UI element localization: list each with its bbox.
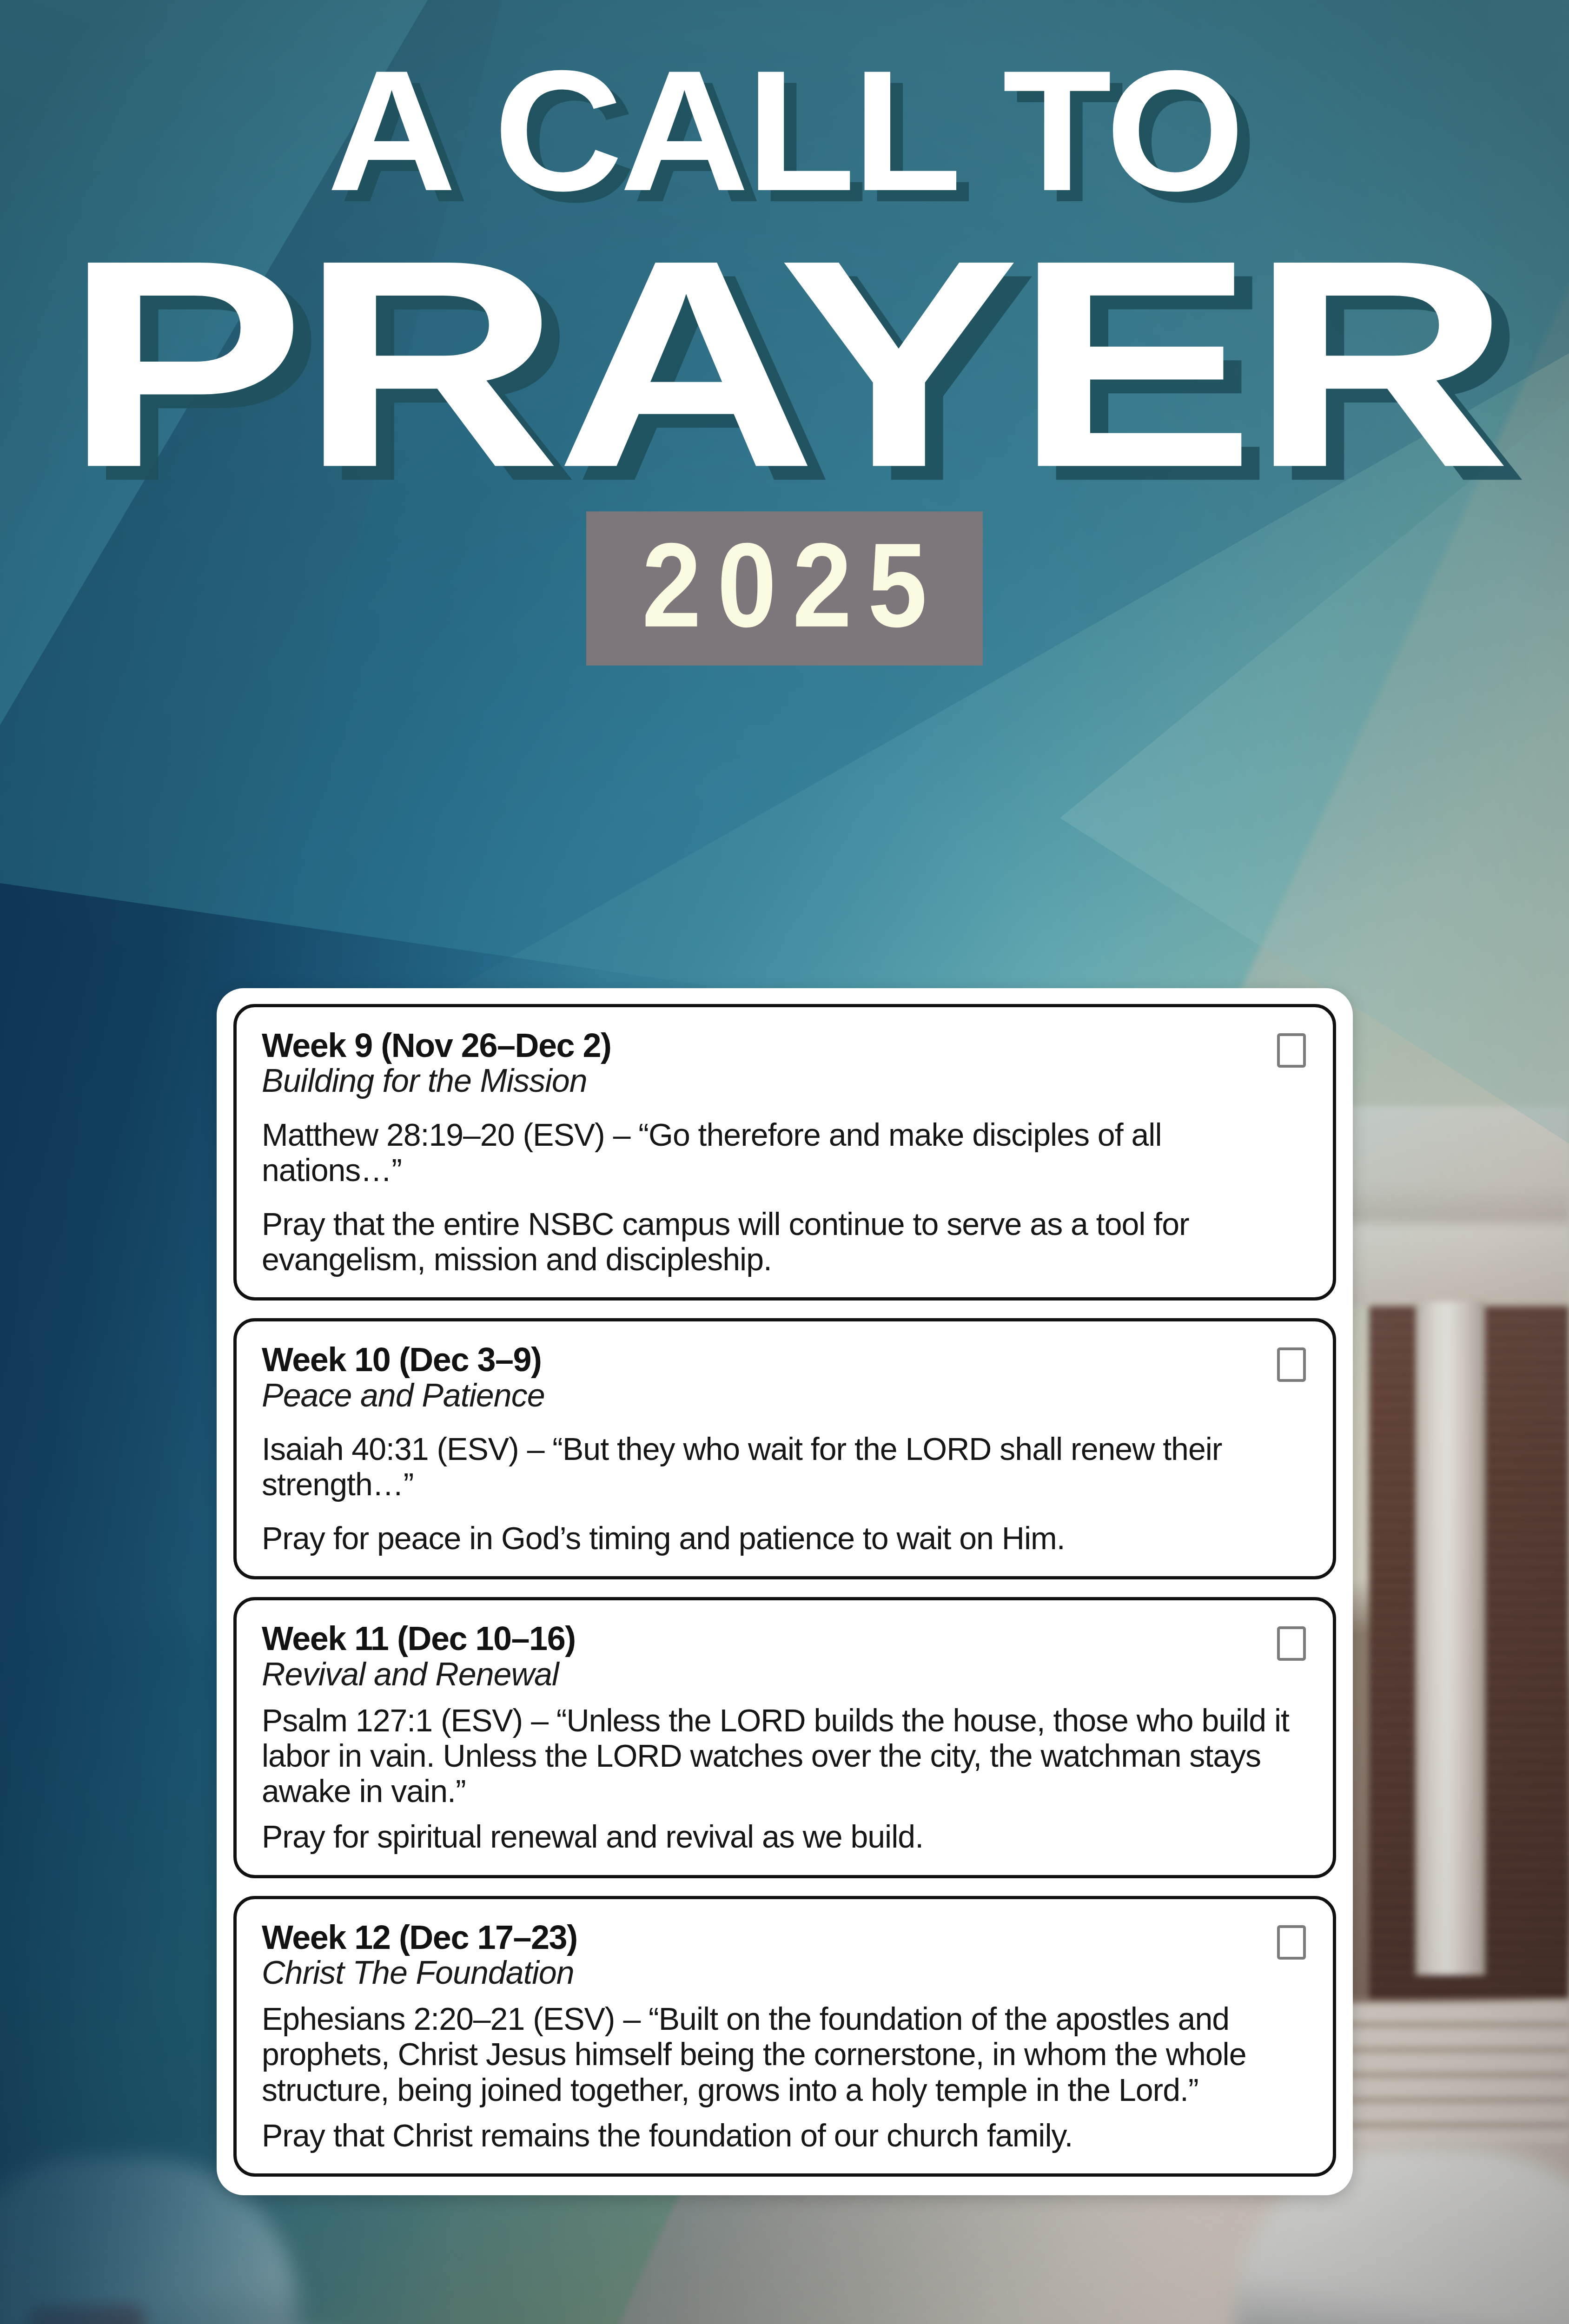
week-card[interactable]: Week 11 (Dec 10–16) Revival and Renewal … [233,1597,1336,1878]
scripture-text: Matthew 28:19–20 (ESV) – “Go therefore a… [262,1117,1308,1188]
card-title-group: Week 11 (Dec 10–16) Revival and Renewal [262,1622,1266,1691]
scripture-text: Ephesians 2:20–21 (ESV) – “Built on the … [262,2001,1308,2107]
card-header: Week 12 (Dec 17–23) Christ The Foundatio… [262,1921,1308,1990]
week-title: Week 9 (Nov 26–Dec 2) [262,1029,1266,1063]
title-line-two: PRAYER [0,224,1569,502]
scripture-text: Psalm 127:1 (ESV) – “Unless the LORD bui… [262,1703,1308,1809]
week-checkbox[interactable] [1277,1033,1306,1068]
week-theme: Building for the Mission [262,1063,1266,1098]
weeks-panel: Week 9 (Nov 26–Dec 2) Building for the M… [217,988,1353,2195]
week-checkbox[interactable] [1277,1626,1306,1661]
week-card[interactable]: Week 9 (Nov 26–Dec 2) Building for the M… [233,1004,1336,1301]
prayer-text: Pray that the entire NSBC campus will co… [262,1206,1308,1277]
title-line-one: A CALL TO [0,0,1569,217]
card-title-group: Week 10 (Dec 3–9) Peace and Patience [262,1343,1266,1413]
card-title-group: Week 12 (Dec 17–23) Christ The Foundatio… [262,1921,1266,1990]
week-card[interactable]: Week 12 (Dec 17–23) Christ The Foundatio… [233,1896,1336,2177]
scripture-text: Isaiah 40:31 (ESV) – “But they who wait … [262,1431,1308,1502]
week-card[interactable]: Week 10 (Dec 3–9) Peace and Patience Isa… [233,1318,1336,1579]
week-checkbox[interactable] [1277,1925,1306,1960]
week-title: Week 12 (Dec 17–23) [262,1921,1266,1954]
card-header: Week 10 (Dec 3–9) Peace and Patience [262,1343,1308,1413]
card-header: Week 11 (Dec 10–16) Revival and Renewal [262,1622,1308,1691]
prayer-text: Pray for spiritual renewal and revival a… [262,1819,1308,1854]
week-theme: Christ The Foundation [262,1955,1266,1990]
prayer-guide-poster: A CALL TO PRAYER 2025 Week 9 (Nov 26–Dec… [0,0,1569,2324]
week-checkbox[interactable] [1277,1347,1306,1382]
prayer-text: Pray for peace in God’s timing and patie… [262,1520,1308,1556]
poster-header: A CALL TO PRAYER 2025 [0,0,1569,657]
week-theme: Peace and Patience [262,1378,1266,1413]
week-title: Week 11 (Dec 10–16) [262,1622,1266,1656]
year-badge-wrapper: 2025 [0,520,1569,657]
card-title-group: Week 9 (Nov 26–Dec 2) Building for the M… [262,1029,1266,1098]
year-badge: 2025 [586,511,983,666]
week-theme: Revival and Renewal [262,1657,1266,1691]
card-header: Week 9 (Nov 26–Dec 2) Building for the M… [262,1029,1308,1098]
week-title: Week 10 (Dec 3–9) [262,1343,1266,1377]
prayer-text: Pray that Christ remains the foundation … [262,2118,1308,2153]
